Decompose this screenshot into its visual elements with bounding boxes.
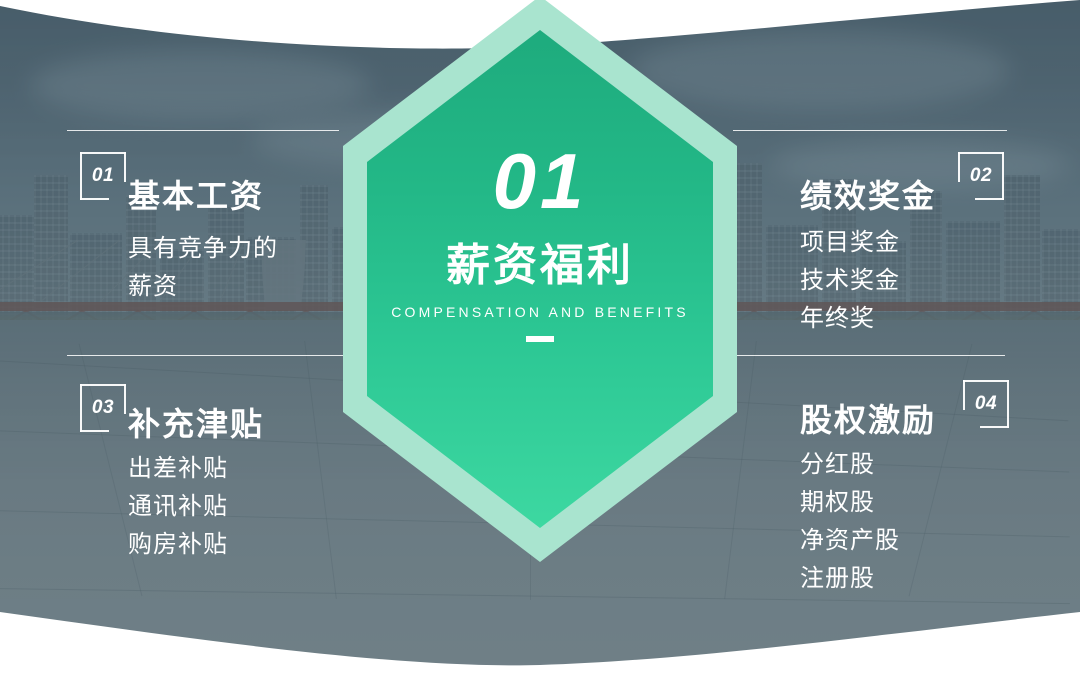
quadrant-title: 补充津贴 xyxy=(128,408,264,440)
quadrant-supplementary-allowance: 03 补充津贴 出差补贴 通讯补贴 购房补贴 xyxy=(0,340,400,684)
badge-edge-bottom xyxy=(980,426,1009,428)
list-item: 薪资 xyxy=(128,268,278,306)
divider-line-top-left xyxy=(67,130,339,131)
slide-canvas: 01 基本工资 具有竞争力的 薪资 02 绩效奖金 项目奖金 技术奖金 年终奖 xyxy=(0,0,1080,684)
badge-edge-top xyxy=(80,384,126,386)
badge-number-01: 01 xyxy=(80,152,126,200)
divider-line-bottom-right xyxy=(733,355,1005,356)
badge-edge-bottom xyxy=(975,198,1004,200)
list-item: 购房补贴 xyxy=(128,526,228,564)
quadrant-title: 绩效奖金 xyxy=(800,180,936,212)
list-item: 通讯补贴 xyxy=(128,488,228,526)
badge-edge-bottom xyxy=(80,198,109,200)
list-item: 技术奖金 xyxy=(800,262,900,300)
center-number: 01 xyxy=(343,142,737,220)
center-divider-dash xyxy=(526,336,554,342)
badge-number-03: 03 xyxy=(80,384,126,432)
quadrant-basic-salary: 01 基本工资 具有竞争力的 薪资 xyxy=(0,0,400,340)
center-title: 薪资福利 xyxy=(343,242,737,290)
badge-edge-left xyxy=(80,384,82,432)
divider-line-bottom-left xyxy=(67,355,345,356)
quadrant-title: 基本工资 xyxy=(128,180,264,212)
list-item: 净资产股 xyxy=(800,522,900,560)
badge-edge-right xyxy=(124,384,126,414)
badge-label: 03 xyxy=(92,397,114,419)
list-item: 项目奖金 xyxy=(800,224,900,262)
quadrant-item-list: 具有竞争力的 薪资 xyxy=(128,230,278,306)
list-item: 年终奖 xyxy=(800,300,900,338)
badge-edge-left xyxy=(963,380,965,410)
quadrant-equity-incentive: 04 股权激励 分红股 期权股 净资产股 注册股 xyxy=(680,340,1080,684)
divider-line-top-right xyxy=(733,130,1007,131)
badge-edge-bottom xyxy=(80,430,109,432)
badge-edge-right xyxy=(1002,152,1004,200)
list-item: 具有竞争力的 xyxy=(128,230,278,268)
badge-label: 02 xyxy=(970,165,992,187)
badge-edge-top xyxy=(963,380,1009,382)
badge-edge-top xyxy=(958,152,1004,154)
badge-number-02: 02 xyxy=(958,152,1004,200)
badge-label: 04 xyxy=(975,393,997,415)
quadrant-item-list: 分红股 期权股 净资产股 注册股 xyxy=(800,446,900,598)
center-subtitle: COMPENSATION AND BENEFITS xyxy=(343,304,737,320)
badge-number-04: 04 xyxy=(963,380,1009,428)
hexagon-content: 01 薪资福利 COMPENSATION AND BENEFITS xyxy=(343,142,737,342)
badge-label: 01 xyxy=(92,165,114,187)
badge-edge-right xyxy=(124,152,126,182)
quadrant-title: 股权激励 xyxy=(800,404,936,436)
quadrant-item-list: 出差补贴 通讯补贴 购房补贴 xyxy=(128,450,228,564)
badge-edge-right xyxy=(1007,380,1009,428)
badge-edge-top xyxy=(80,152,126,154)
quadrant-item-list: 项目奖金 技术奖金 年终奖 xyxy=(800,224,900,338)
list-item: 分红股 xyxy=(800,446,900,484)
quadrant-performance-bonus: 02 绩效奖金 项目奖金 技术奖金 年终奖 xyxy=(680,0,1080,340)
list-item: 期权股 xyxy=(800,484,900,522)
center-hexagon: 01 薪资福利 COMPENSATION AND BENEFITS xyxy=(343,0,737,562)
list-item: 注册股 xyxy=(800,560,900,598)
badge-edge-left xyxy=(958,152,960,182)
badge-edge-left xyxy=(80,152,82,200)
list-item: 出差补贴 xyxy=(128,450,228,488)
